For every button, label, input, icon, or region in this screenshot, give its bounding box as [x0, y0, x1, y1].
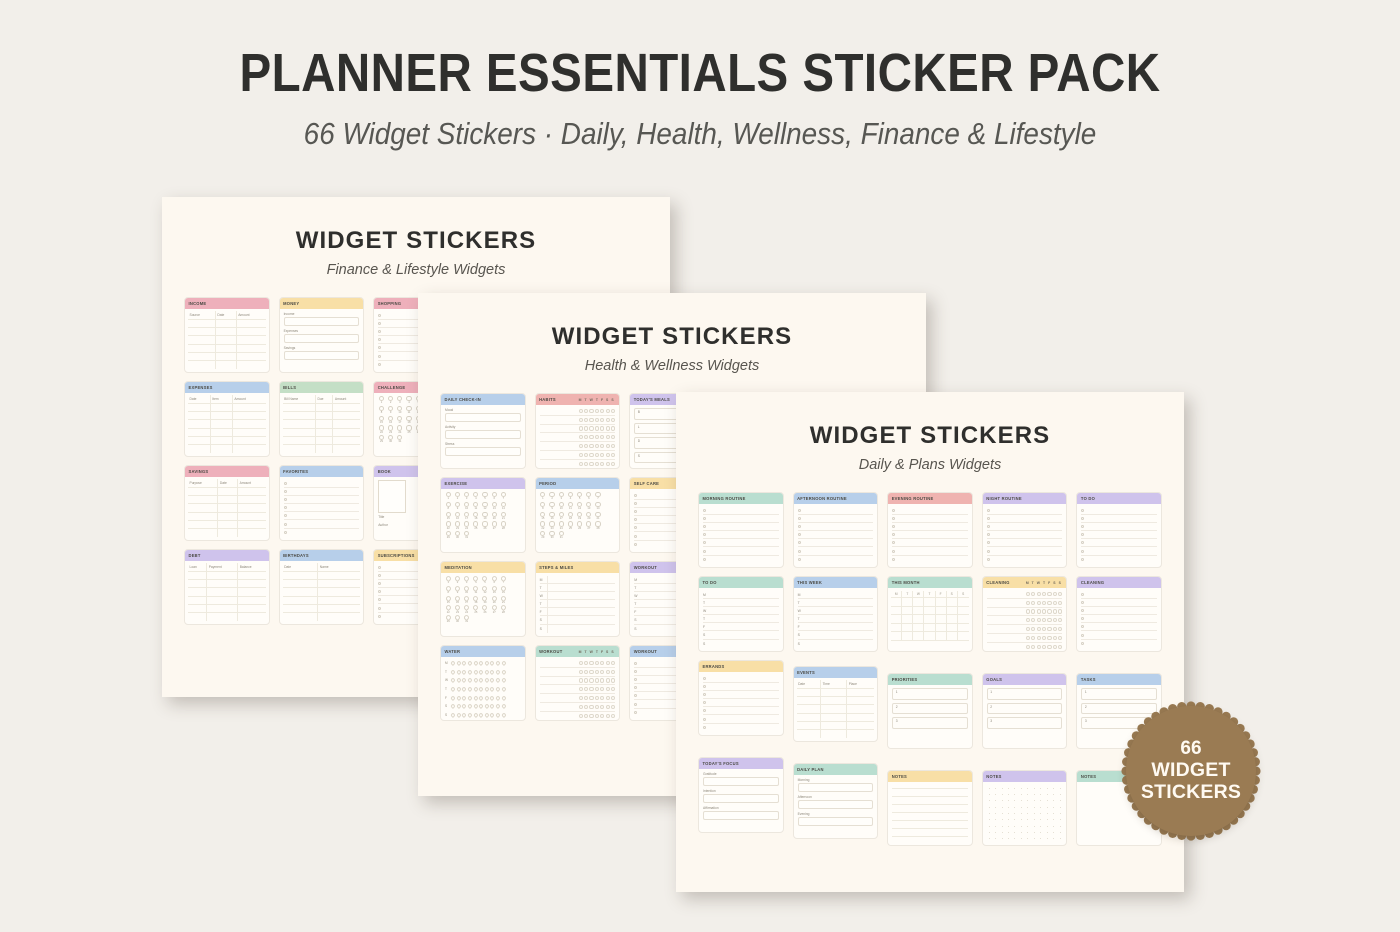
habit-mark-icon[interactable] [584, 705, 588, 709]
table-row[interactable] [283, 420, 361, 428]
checkbox-icon[interactable] [1081, 609, 1084, 612]
numbered-list[interactable]: 123 [983, 685, 1067, 735]
table-cell[interactable] [215, 327, 236, 335]
table-cell[interactable] [283, 571, 318, 579]
habit-mark-icon[interactable] [1042, 592, 1046, 596]
day-cell[interactable]: 23 [454, 605, 461, 614]
list-item[interactable] [798, 531, 874, 539]
table-row[interactable] [797, 722, 875, 730]
list-item[interactable] [1081, 547, 1157, 555]
habit-mark-icon[interactable] [600, 426, 604, 430]
checkbox-icon[interactable] [703, 509, 706, 512]
table-cell[interactable] [218, 529, 238, 537]
day-cell[interactable]: 13 [491, 586, 498, 595]
calendar-cell[interactable] [891, 624, 902, 633]
calendar-cell[interactable] [902, 624, 913, 633]
habit-mark-icon[interactable] [584, 444, 588, 448]
table-cell[interactable] [318, 571, 360, 579]
widget-savings[interactable]: SAVINGS PurposeDateAmount [184, 465, 270, 541]
checkbox-icon[interactable] [703, 533, 706, 536]
day-cell[interactable]: 9 [454, 586, 461, 595]
calendar-cell[interactable] [891, 598, 902, 607]
list-item[interactable] [892, 507, 968, 515]
day-cell[interactable]: 11 [473, 586, 480, 595]
table-row[interactable] [283, 571, 361, 579]
day-cell[interactable]: 19 [482, 596, 489, 605]
table-cell[interactable] [207, 605, 238, 613]
list-item[interactable]: F [703, 623, 779, 631]
field-input[interactable] [798, 817, 874, 826]
day-cell[interactable]: 10 [558, 502, 565, 511]
checkbox-icon[interactable] [378, 355, 381, 358]
day-cell[interactable]: 3 [558, 492, 565, 501]
habit-mark-icon[interactable] [1058, 609, 1062, 613]
checkbox-icon[interactable] [634, 678, 637, 681]
water-drop-icon[interactable] [495, 695, 501, 701]
habit-mark-icon[interactable] [606, 705, 610, 709]
habit-mark-icon[interactable] [606, 435, 610, 439]
checkbox-icon[interactable] [1081, 525, 1084, 528]
checkbox-icon[interactable] [284, 490, 287, 493]
note-line[interactable] [892, 836, 968, 837]
habit-mark-icon[interactable] [606, 678, 610, 682]
checkbox-icon[interactable] [703, 709, 706, 712]
habit-mark-icon[interactable] [595, 678, 599, 682]
habit-mark-icon[interactable] [1042, 636, 1046, 640]
habit-mark-icon[interactable] [600, 418, 604, 422]
field[interactable]: Mood [445, 408, 521, 422]
table-cell[interactable] [238, 596, 266, 604]
table-cell[interactable] [238, 521, 266, 529]
table-row[interactable] [188, 596, 266, 604]
habit-mark-icon[interactable] [595, 418, 599, 422]
checkbox-icon[interactable] [892, 558, 895, 561]
habit-mark-icon[interactable] [611, 426, 615, 430]
checkbox-icon[interactable] [284, 506, 287, 509]
table-cell[interactable] [283, 445, 316, 453]
checkbox-icon[interactable] [798, 533, 801, 536]
list-item[interactable] [1081, 607, 1157, 615]
habit-mark-icon[interactable] [1053, 609, 1057, 613]
data-table[interactable]: DateItemAmount [185, 393, 269, 455]
day-cell[interactable]: 11 [473, 502, 480, 511]
habit-mark-icon[interactable] [606, 462, 610, 466]
calendar-cell[interactable] [947, 607, 958, 616]
widget-evening-routine[interactable]: EVENING ROUTINE [887, 492, 973, 568]
list-item[interactable] [1081, 591, 1157, 599]
table-cell[interactable] [238, 579, 266, 587]
checkbox-icon[interactable] [378, 615, 381, 618]
habit-mark-icon[interactable] [1047, 618, 1051, 622]
checkbox-icon[interactable] [987, 525, 990, 528]
day-cell[interactable]: 27 [491, 521, 498, 530]
field-input[interactable] [284, 317, 360, 326]
calendar-cell[interactable] [891, 632, 902, 641]
field[interactable]: Activity [445, 425, 521, 439]
habit-mark-icon[interactable] [1042, 609, 1046, 613]
list-item[interactable]: T [703, 599, 779, 607]
habit-mark-icon[interactable] [600, 453, 604, 457]
habit-mark-icon[interactable] [600, 661, 604, 665]
habit-mark-icon[interactable] [606, 453, 610, 457]
table-cell[interactable] [283, 579, 318, 587]
day-cell[interactable]: 18 [406, 416, 413, 425]
table-cell[interactable] [210, 437, 232, 445]
table-cell[interactable] [283, 605, 318, 613]
habit-mark-icon[interactable] [595, 453, 599, 457]
habit-mark-icon[interactable] [1031, 636, 1035, 640]
day-cell[interactable]: 26 [482, 605, 489, 614]
calendar-cell[interactable] [913, 598, 924, 607]
day-cell[interactable]: 2 [454, 576, 461, 585]
day-cell[interactable]: 9 [549, 502, 556, 511]
table-cell[interactable] [207, 596, 238, 604]
checkbox-icon[interactable] [703, 726, 706, 729]
numbered-list[interactable]: 123 [888, 685, 972, 735]
day-cell[interactable]: 31 [463, 531, 470, 540]
note-line[interactable] [892, 828, 968, 829]
habit-mark-icon[interactable] [1042, 627, 1046, 631]
day-cell[interactable]: 21 [500, 596, 507, 605]
sheet-daily-plans[interactable]: WIDGET STICKERS Daily & Plans Widgets MO… [676, 392, 1184, 892]
table-row[interactable] [188, 613, 266, 621]
field-input[interactable] [284, 351, 360, 360]
table-cell[interactable] [283, 613, 318, 621]
table-cell[interactable] [821, 722, 847, 730]
table-cell[interactable] [188, 420, 210, 428]
habit-mark-icon[interactable] [1037, 601, 1041, 605]
table-row[interactable] [283, 605, 361, 613]
widget-bills[interactable]: BILLS Bill NameDueAmount [279, 381, 365, 457]
table-cell[interactable] [847, 722, 875, 730]
habit-row[interactable] [540, 407, 616, 416]
day-cell[interactable]: 14 [595, 502, 602, 511]
table-row[interactable] [283, 579, 361, 587]
widget-notes-dotted[interactable]: NOTES [982, 770, 1068, 846]
table-cell[interactable] [797, 713, 821, 721]
day-cell[interactable]: 22 [445, 521, 452, 530]
habit-mark-icon[interactable] [584, 453, 588, 457]
widget-steps-miles[interactable]: STEPS & MILES MTWTFSS [535, 561, 621, 637]
day-cell[interactable]: 26 [576, 521, 583, 530]
table-row[interactable] [188, 495, 266, 503]
checkbox-icon[interactable] [892, 550, 895, 553]
habit-mark-icon[interactable] [1047, 609, 1051, 613]
table-cell[interactable] [215, 319, 236, 327]
habit-mark-icon[interactable] [606, 670, 610, 674]
table-row[interactable] [188, 437, 266, 445]
widget-night-routine[interactable]: NIGHT ROUTINE [982, 492, 1068, 568]
checkbox-icon[interactable] [703, 517, 706, 520]
table-row[interactable] [188, 327, 266, 335]
day-cell[interactable]: 24 [463, 521, 470, 530]
table-row[interactable] [797, 705, 875, 713]
day-cell[interactable]: 31 [463, 615, 470, 624]
day-cell[interactable]: 18 [473, 596, 480, 605]
day-cell[interactable]: 12 [576, 502, 583, 511]
day-cell[interactable]: 13 [491, 502, 498, 511]
habit-mark-icon[interactable] [589, 696, 593, 700]
list-item[interactable] [284, 496, 360, 504]
table-cell[interactable] [188, 411, 210, 419]
habit-mark-icon[interactable] [1031, 609, 1035, 613]
table-cell[interactable] [188, 588, 207, 596]
field[interactable]: Affirmation [703, 806, 779, 820]
day-cell[interactable]: 5 [482, 576, 489, 585]
list-item[interactable]: T [703, 615, 779, 623]
table-cell[interactable] [333, 411, 360, 419]
table-cell[interactable] [283, 588, 318, 596]
habit-mark-icon[interactable] [584, 418, 588, 422]
checkbox-icon[interactable] [892, 541, 895, 544]
day-cell[interactable]: 11 [567, 502, 574, 511]
habit-mark-icon[interactable] [589, 670, 593, 674]
checkbox-icon[interactable] [1081, 541, 1084, 544]
data-table[interactable]: SourceDateAmount [185, 309, 269, 371]
checkbox-icon[interactable] [1081, 625, 1084, 628]
day-tracker[interactable]: 1234567891011121314151617181920212223242… [441, 573, 525, 626]
habit-mark-icon[interactable] [1047, 636, 1051, 640]
list-item[interactable] [703, 699, 779, 707]
table-cell[interactable] [333, 403, 360, 411]
habit-mark-icon[interactable] [1047, 592, 1051, 596]
book-cover-placeholder[interactable] [378, 480, 406, 513]
table-cell[interactable] [236, 344, 265, 352]
table-cell[interactable] [210, 445, 232, 453]
checkbox-icon[interactable] [1081, 509, 1084, 512]
day-cell[interactable]: 23 [387, 425, 394, 434]
water-drop-icon[interactable] [501, 669, 507, 675]
table-cell[interactable] [232, 420, 265, 428]
value-cell[interactable] [547, 576, 616, 583]
list-item[interactable]: T [798, 599, 874, 607]
value-cell[interactable] [547, 616, 616, 623]
day-cell[interactable]: 3 [463, 576, 470, 585]
habit-mark-icon[interactable] [595, 696, 599, 700]
calendar-cell[interactable] [913, 607, 924, 616]
data-table[interactable]: DateName [280, 561, 364, 623]
list-item[interactable] [703, 556, 779, 564]
table-cell[interactable] [797, 722, 821, 730]
checklist[interactable] [983, 504, 1067, 567]
calendar-cell[interactable] [913, 615, 924, 624]
habit-row[interactable] [987, 616, 1063, 625]
checkbox-icon[interactable] [378, 330, 381, 333]
checkbox-icon[interactable] [892, 517, 895, 520]
table-row[interactable] [188, 319, 266, 327]
calendar-cell[interactable] [947, 624, 958, 633]
table-cell[interactable] [188, 327, 215, 335]
widget-exercise[interactable]: EXERCISE 1234567891011121314151617181920… [440, 477, 526, 553]
calendar-cell[interactable] [947, 598, 958, 607]
list-item[interactable]: M [540, 576, 616, 584]
checkbox-icon[interactable] [1081, 533, 1084, 536]
widget-priorities[interactable]: PRIORITIES 123 [887, 673, 973, 749]
day-cell[interactable]: 14 [500, 502, 507, 511]
numbered-field[interactable]: 2 [987, 703, 1063, 715]
field-input[interactable] [798, 800, 874, 809]
day-cell[interactable]: 12 [482, 502, 489, 511]
day-cell[interactable]: 24 [463, 605, 470, 614]
list-item[interactable]: F [540, 608, 616, 616]
field-input[interactable] [445, 447, 521, 456]
water-row[interactable]: T [445, 685, 521, 694]
habit-mark-icon[interactable] [611, 462, 615, 466]
note-line[interactable] [892, 820, 968, 821]
checkbox-icon[interactable] [634, 502, 637, 505]
table-cell[interactable] [207, 579, 238, 587]
table-cell[interactable] [215, 344, 236, 352]
table-cell[interactable] [232, 437, 265, 445]
checkbox-icon[interactable] [378, 566, 381, 569]
calendar-cell[interactable] [902, 598, 913, 607]
list-item[interactable] [798, 523, 874, 531]
calendar-cell[interactable] [958, 615, 969, 624]
list-item[interactable]: W [798, 607, 874, 615]
field-input[interactable] [703, 777, 779, 786]
habit-row[interactable] [987, 625, 1063, 634]
day-cell[interactable]: 17 [558, 512, 565, 521]
table-row[interactable] [188, 353, 266, 361]
list-item[interactable] [892, 556, 968, 564]
checkbox-icon[interactable] [378, 322, 381, 325]
water-drop-icon[interactable] [467, 677, 473, 683]
checkbox-icon[interactable] [634, 694, 637, 697]
list-item[interactable] [1081, 599, 1157, 607]
table-row[interactable] [188, 487, 266, 495]
habit-mark-icon[interactable] [1037, 645, 1041, 649]
table-cell[interactable] [188, 579, 207, 587]
table-cell[interactable] [215, 361, 236, 369]
checkbox-icon[interactable] [378, 590, 381, 593]
checkbox-icon[interactable] [378, 582, 381, 585]
water-drop-icon[interactable] [495, 669, 501, 675]
habit-mark-icon[interactable] [584, 714, 588, 718]
day-cell[interactable]: 20 [491, 512, 498, 521]
water-drop-icon[interactable] [495, 677, 501, 683]
table-row[interactable] [283, 403, 361, 411]
checkbox-icon[interactable] [284, 531, 287, 534]
checkbox-icon[interactable] [1081, 558, 1084, 561]
habit-mark-icon[interactable] [611, 678, 615, 682]
table-row[interactable] [283, 428, 361, 436]
habit-mark-icon[interactable] [584, 696, 588, 700]
table-cell[interactable] [232, 428, 265, 436]
habit-row[interactable] [540, 659, 616, 668]
habit-mark-icon[interactable] [1037, 592, 1041, 596]
list-item[interactable]: F [798, 623, 874, 631]
widget-to-do-list[interactable]: TO DO [1076, 492, 1162, 568]
day-cell[interactable]: 10 [463, 586, 470, 595]
widget-to-do-week[interactable]: TO DO MTWTFSS [698, 576, 784, 652]
table-cell[interactable] [218, 521, 238, 529]
list-item[interactable] [1081, 640, 1157, 648]
widget-habits[interactable]: HABITS M T W T F S S [535, 393, 621, 469]
water-drop-icon[interactable] [467, 660, 473, 666]
day-cell[interactable]: 7 [500, 492, 507, 501]
table-cell[interactable] [238, 571, 266, 579]
calendar-cell[interactable] [947, 615, 958, 624]
field[interactable]: Expenses [284, 329, 360, 343]
habit-row[interactable] [540, 677, 616, 686]
day-cell[interactable]: 10 [463, 502, 470, 511]
checkbox-icon[interactable] [634, 543, 637, 546]
checkbox-icon[interactable] [703, 685, 706, 688]
day-cell[interactable]: 25 [567, 521, 574, 530]
table-row[interactable] [188, 521, 266, 529]
habit-mark-icon[interactable] [606, 418, 610, 422]
day-cell[interactable]: 3 [397, 396, 404, 405]
list-item[interactable] [703, 715, 779, 723]
field-input[interactable] [798, 783, 874, 792]
habit-mark-icon[interactable] [584, 426, 588, 430]
habit-mark-icon[interactable] [606, 696, 610, 700]
water-drop-icon[interactable] [467, 695, 473, 701]
calendar-cell[interactable] [924, 615, 935, 624]
table-cell[interactable] [188, 512, 218, 520]
table-cell[interactable] [232, 445, 265, 453]
habit-mark-icon[interactable] [589, 462, 593, 466]
widget-daily-check-in[interactable]: DAILY CHECK-IN MoodActivityStress [440, 393, 526, 469]
habit-mark-icon[interactable] [600, 670, 604, 674]
habit-mark-icon[interactable] [1037, 609, 1041, 613]
field[interactable]: Gratitude [703, 772, 779, 786]
day-cell[interactable]: 4 [406, 396, 413, 405]
habit-mark-icon[interactable] [584, 409, 588, 413]
table-row[interactable] [797, 713, 875, 721]
table-row[interactable] [188, 411, 266, 419]
habit-mark-icon[interactable] [584, 687, 588, 691]
widget-goals[interactable]: GOALS 123 [982, 673, 1068, 749]
numbered-field[interactable]: 2 [892, 703, 968, 715]
habit-mark-icon[interactable] [611, 714, 615, 718]
table-cell[interactable] [188, 613, 207, 621]
habit-mark-icon[interactable] [1058, 618, 1062, 622]
habit-mark-icon[interactable] [600, 462, 604, 466]
habit-mark-icon[interactable] [1026, 645, 1030, 649]
habit-mark-icon[interactable] [611, 418, 615, 422]
table-cell[interactable] [315, 411, 332, 419]
habit-mark-icon[interactable] [606, 444, 610, 448]
habit-mark-icon[interactable] [1026, 609, 1030, 613]
list-item[interactable] [284, 480, 360, 488]
calendar-cell[interactable] [891, 607, 902, 616]
habit-row[interactable] [540, 442, 616, 451]
habit-mark-icon[interactable] [589, 444, 593, 448]
list-item[interactable] [284, 520, 360, 528]
checkbox-icon[interactable] [1081, 593, 1084, 596]
table-cell[interactable] [218, 504, 238, 512]
table-row[interactable] [188, 588, 266, 596]
table-cell[interactable] [797, 688, 821, 696]
value-cell[interactable] [547, 584, 616, 591]
checkbox-icon[interactable] [378, 607, 381, 610]
list-item[interactable] [284, 512, 360, 520]
table-row[interactable] [283, 613, 361, 621]
table-cell[interactable] [847, 713, 875, 721]
calendar-cell[interactable] [936, 607, 947, 616]
list-item[interactable] [987, 539, 1063, 547]
day-cell[interactable]: 30 [454, 615, 461, 624]
list-item[interactable]: T [798, 615, 874, 623]
numbered-field[interactable]: 1 [892, 688, 968, 700]
list-item[interactable] [1081, 615, 1157, 623]
list-item[interactable] [798, 539, 874, 547]
day-cell[interactable]: 15 [445, 512, 452, 521]
checkbox-icon[interactable] [634, 494, 637, 497]
habit-row[interactable] [987, 643, 1063, 652]
checkbox-icon[interactable] [892, 533, 895, 536]
